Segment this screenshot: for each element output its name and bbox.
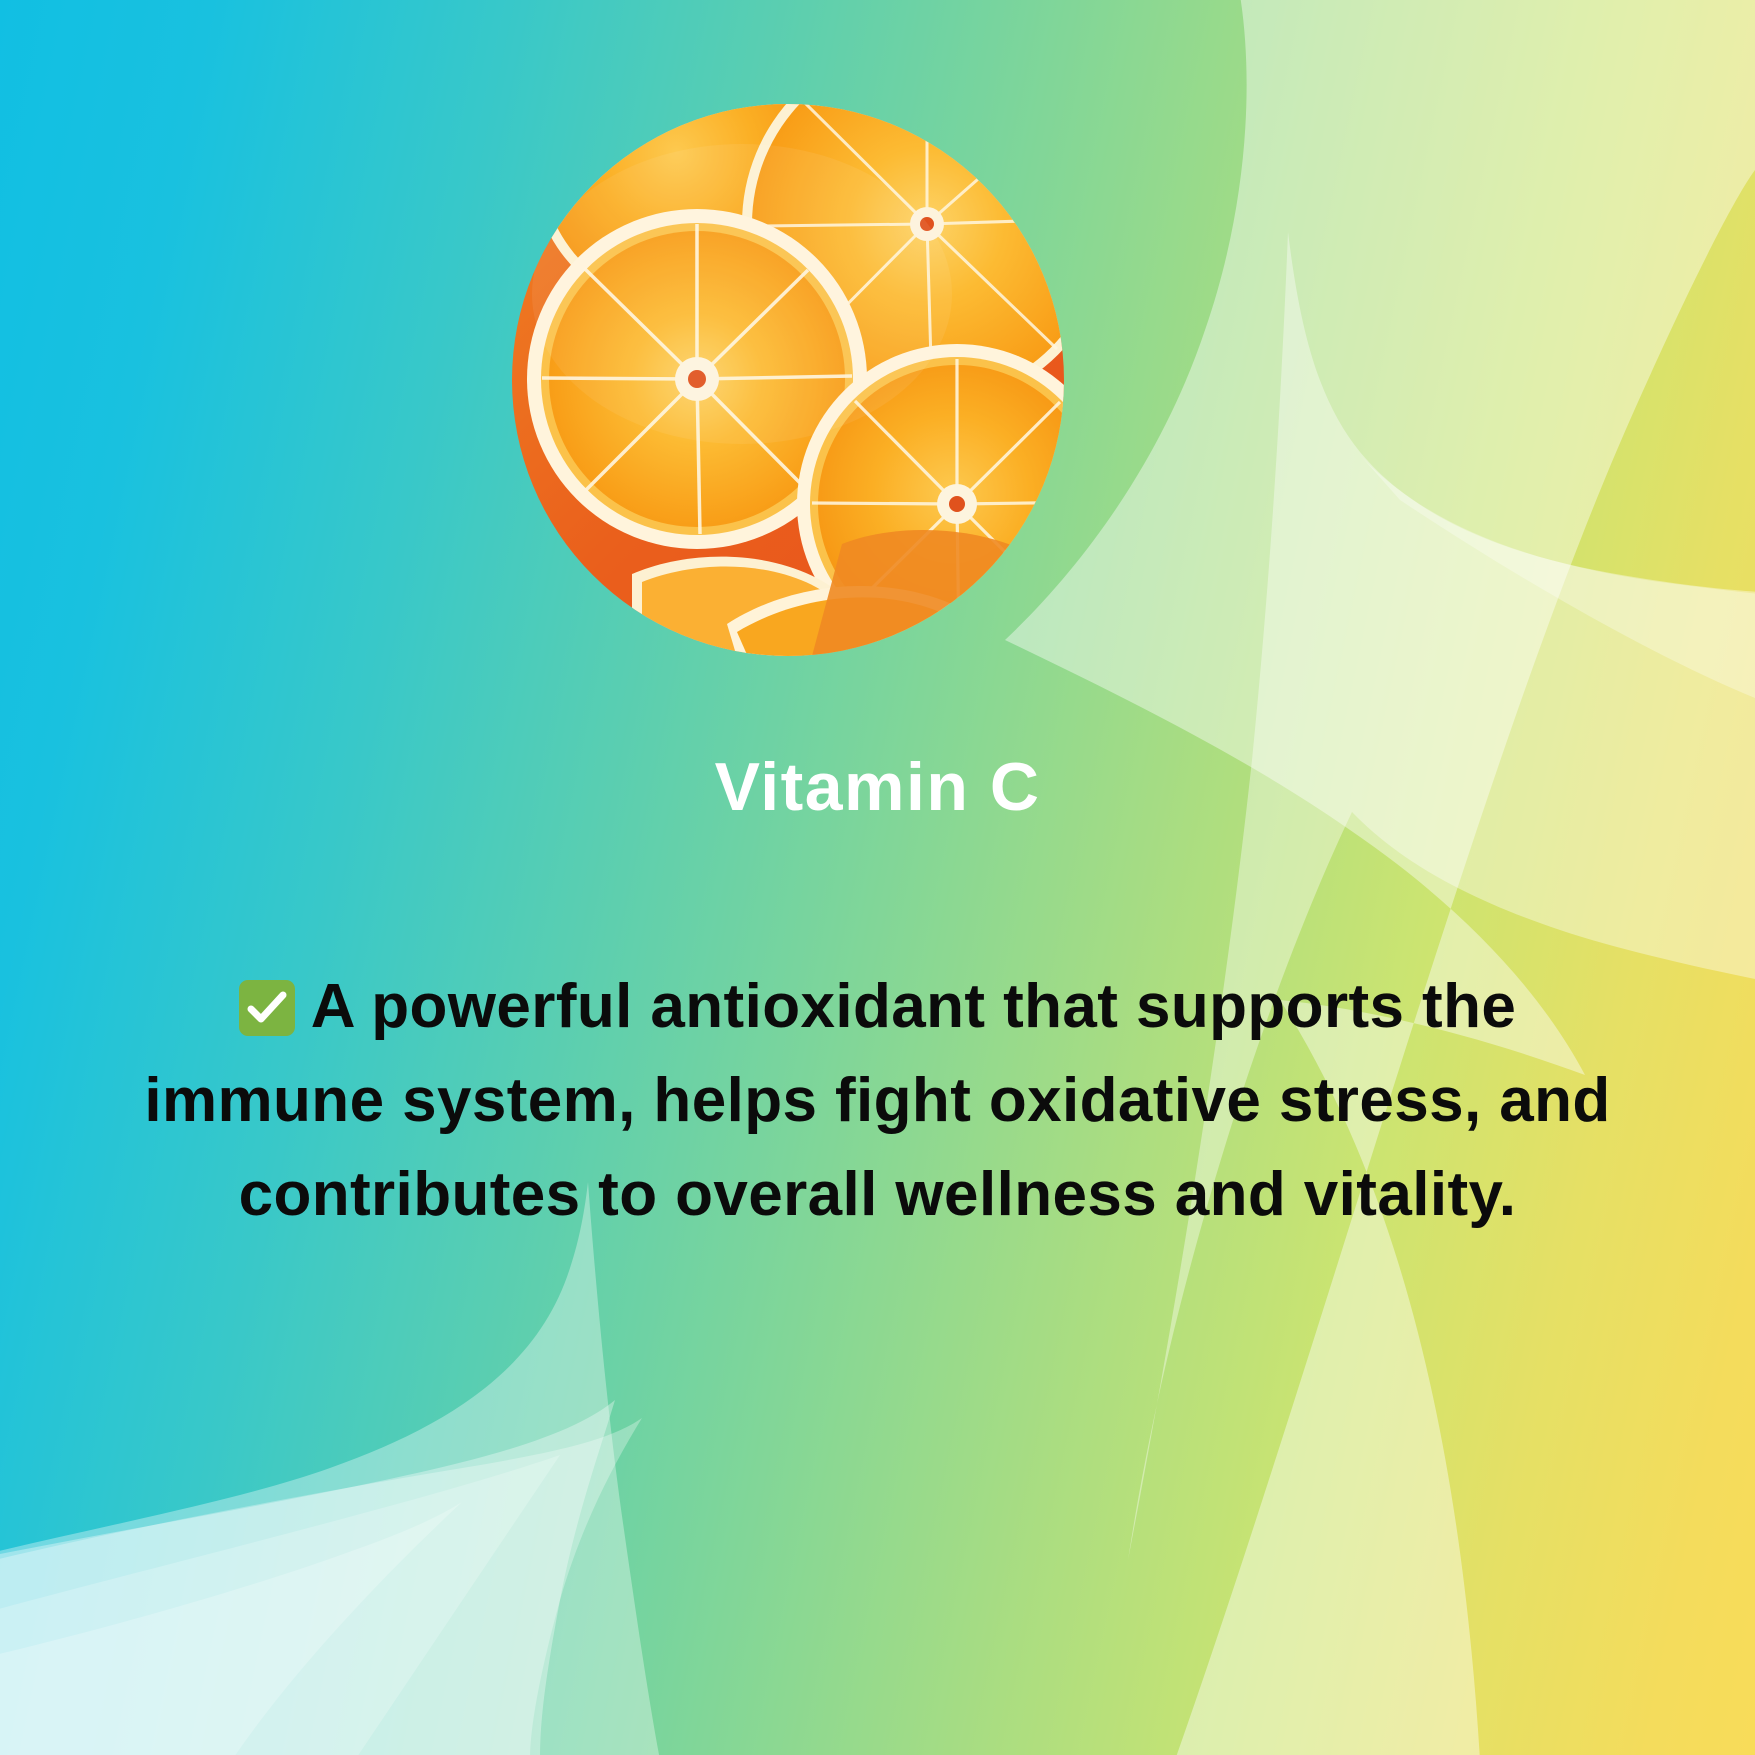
vitamin-c-info-card: Vitamin C A powerful antioxidant that su…: [0, 0, 1755, 1755]
orange-highlight: [532, 144, 952, 444]
benefit-description: A powerful antioxidant that supports the…: [110, 960, 1645, 1243]
check-glyph: [247, 989, 287, 1027]
white-heavy-check-mark-icon: [239, 980, 295, 1036]
page-title: Vitamin C: [0, 742, 1755, 834]
orange-slices-illustration: [512, 104, 1064, 656]
benefit-description-text: A powerful antioxidant that supports the…: [144, 972, 1610, 1229]
hero-image-orange-slices: [512, 104, 1064, 656]
